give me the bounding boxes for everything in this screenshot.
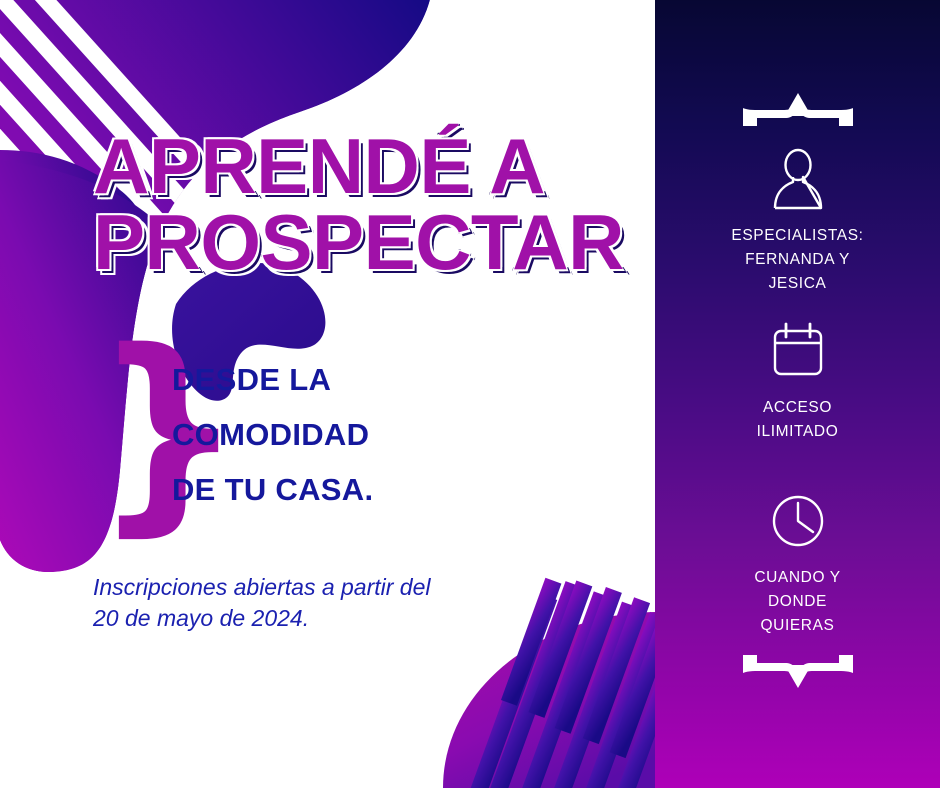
feature-label-specialists: ESPECIALISTAS: FERNANDA Y JESICA [655, 224, 940, 296]
feature-label-access: ACCESO ILIMITADO [655, 396, 940, 444]
hanger-chevron-up-ornament [655, 86, 940, 131]
person-icon [655, 148, 940, 210]
enrollment-note: Inscripciones abiertas a partir del 20 d… [93, 572, 553, 634]
feature-label-anytime: CUANDO Y DONDE QUIERAS [655, 566, 940, 638]
feature-item-access: ACCESO ILIMITADO [655, 320, 940, 444]
clock-icon [655, 490, 940, 552]
feature-item-specialists: ESPECIALISTAS: FERNANDA Y JESICA [655, 148, 940, 296]
calendar-icon [655, 320, 940, 382]
hanger-chevron-down-ornament [655, 655, 940, 700]
main-content: APRENDÉ A PROSPECTAR APRENDÉ A PROSPECTA… [0, 0, 655, 788]
page-title: APRENDÉ A PROSPECTAR [93, 128, 653, 281]
feature-item-anytime: CUANDO Y DONDE QUIERAS [655, 490, 940, 638]
poster-canvas: APRENDÉ A PROSPECTAR APRENDÉ A PROSPECTA… [0, 0, 940, 788]
subheading: DESDE LA COMODIDAD DE TU CASA. [172, 352, 592, 517]
features-sidebar: ESPECIALISTAS: FERNANDA Y JESICA ACCESO … [655, 0, 940, 788]
